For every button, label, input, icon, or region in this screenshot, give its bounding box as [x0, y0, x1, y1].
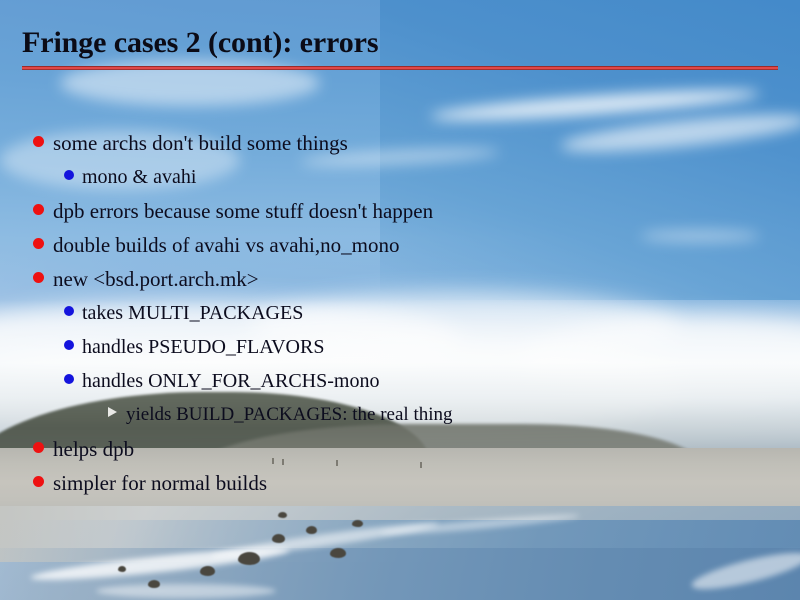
- bullet-item-label: handles PSEUDO_FLAVORS: [82, 330, 324, 364]
- red-dot-bullet: [33, 272, 44, 283]
- bullet-item: double builds of avahi vs avahi,no_mono: [0, 228, 800, 262]
- bullet-item-label: simpler for normal builds: [53, 466, 267, 500]
- surf-foam: [96, 584, 276, 598]
- slide-title: Fringe cases 2 (cont): errors: [22, 26, 378, 60]
- bullet-item: yields BUILD_PACKAGES: the real thing: [0, 398, 800, 432]
- bullet-item: handles PSEUDO_FLAVORS: [0, 330, 800, 364]
- red-dot-bullet: [33, 238, 44, 249]
- red-dot-bullet: [33, 136, 44, 147]
- beach-rock: [200, 566, 215, 576]
- beach-rock: [278, 512, 287, 518]
- beach-rock: [272, 534, 285, 543]
- triangle-bullet: [108, 407, 117, 417]
- bullet-item-label: new <bsd.port.arch.mk>: [53, 262, 259, 296]
- bullet-item: takes MULTI_PACKAGES: [0, 296, 800, 330]
- bullet-item: dpb errors because some stuff doesn't ha…: [0, 194, 800, 228]
- beach-rock: [238, 552, 260, 565]
- bullet-item: handles ONLY_FOR_ARCHS-mono: [0, 364, 800, 398]
- beach-rock: [330, 548, 346, 558]
- bullet-item: new <bsd.port.arch.mk>: [0, 262, 800, 296]
- beach-rock: [306, 526, 317, 534]
- bullet-item-label: dpb errors because some stuff doesn't ha…: [53, 194, 433, 228]
- blue-dot-bullet: [64, 374, 74, 384]
- red-dot-bullet: [33, 204, 44, 215]
- beach-rock: [148, 580, 160, 588]
- bullet-item-label: some archs don't build some things: [53, 126, 348, 160]
- bullet-item-label: takes MULTI_PACKAGES: [82, 296, 303, 330]
- blue-dot-bullet: [64, 170, 74, 180]
- blue-dot-bullet: [64, 340, 74, 350]
- bullet-item-label: mono & avahi: [82, 160, 196, 194]
- beach-rock: [352, 520, 363, 527]
- red-dot-bullet: [33, 476, 44, 487]
- title-underline-rule: [22, 66, 778, 70]
- bullet-item-label: double builds of avahi vs avahi,no_mono: [53, 228, 399, 262]
- bullet-item-label: yields BUILD_PACKAGES: the real thing: [126, 398, 453, 432]
- bullet-item-label: handles ONLY_FOR_ARCHS-mono: [82, 364, 379, 398]
- beach-rock: [118, 566, 126, 572]
- bullet-item: mono & avahi: [0, 160, 800, 194]
- presentation-slide: Fringe cases 2 (cont): errors some archs…: [0, 0, 800, 600]
- bullet-item: some archs don't build some things: [0, 126, 800, 160]
- bullet-item-label: helps dpb: [53, 432, 134, 466]
- bullet-item: helps dpb: [0, 432, 800, 466]
- bullet-item: simpler for normal builds: [0, 466, 800, 500]
- bullet-list: some archs don't build some thingsmono &…: [0, 126, 800, 500]
- red-dot-bullet: [33, 442, 44, 453]
- blue-dot-bullet: [64, 306, 74, 316]
